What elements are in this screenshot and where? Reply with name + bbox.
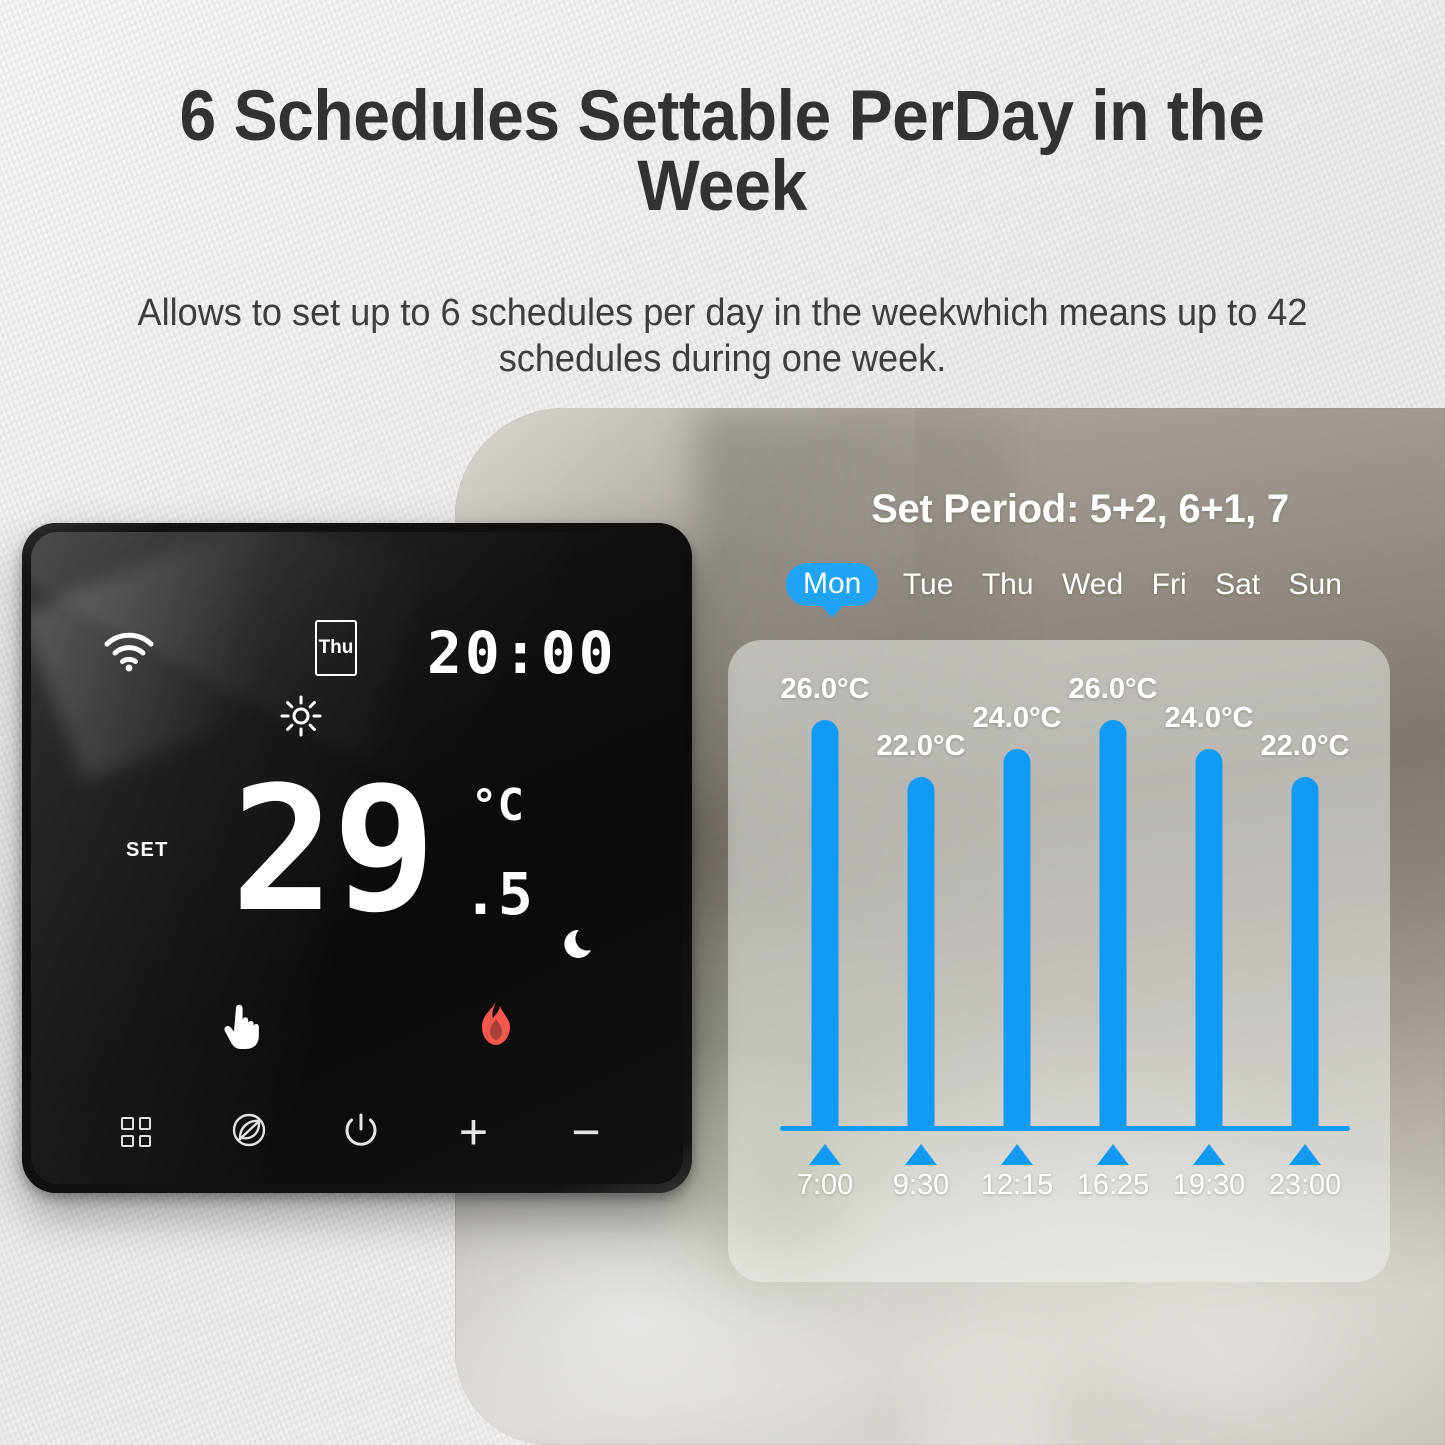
power-icon: [341, 1110, 381, 1155]
chart-tick[interactable]: 12:15: [972, 1144, 1062, 1202]
chart-tick[interactable]: 9:30: [876, 1144, 966, 1202]
set-label: SET: [126, 839, 169, 862]
schedule-chart-card: 26.0°C22.0°C24.0°C26.0°C24.0°C22.0°C 7:0…: [728, 640, 1390, 1282]
chart-bars-area: 26.0°C22.0°C24.0°C26.0°C24.0°C22.0°C: [780, 676, 1350, 1126]
chart-bar[interactable]: [1292, 777, 1319, 1126]
day-tabs: Mon Tue Thu Wed Fri Sat Sun: [786, 563, 1346, 606]
temperature-unit: °C: [471, 780, 524, 831]
power-button[interactable]: [326, 1104, 396, 1160]
chart-bar-column[interactable]: 26.0°C: [1068, 676, 1158, 1126]
triangle-up-icon: [1193, 1144, 1225, 1165]
schedule-chart: 26.0°C22.0°C24.0°C26.0°C24.0°C22.0°C 7:0…: [780, 676, 1350, 1246]
chart-bar-value-label: 24.0°C: [973, 702, 1062, 735]
triangle-up-icon: [905, 1144, 937, 1165]
chart-bar[interactable]: [812, 720, 839, 1126]
chart-tick-label: 9:30: [876, 1169, 966, 1202]
page-subtitle: Allows to set up to 6 schedules per day …: [126, 291, 1318, 382]
chart-tick-label: 16:25: [1068, 1169, 1158, 1202]
chart-tick-label: 19:30: [1164, 1169, 1254, 1202]
chart-bar[interactable]: [1100, 720, 1127, 1126]
grid-icon: [121, 1117, 151, 1147]
device-day-badge: Thu: [315, 620, 357, 676]
chart-bar-column[interactable]: 26.0°C: [780, 676, 870, 1126]
current-temperature: 29: [231, 764, 434, 936]
chart-tick[interactable]: 7:00: [780, 1144, 870, 1202]
page-title: 6 Schedules Settable PerDay in the Week: [118, 82, 1327, 221]
chart-bar-column[interactable]: 22.0°C: [1260, 676, 1350, 1126]
chart-bar[interactable]: [908, 777, 935, 1126]
moon-icon: [561, 924, 601, 969]
chart-baseline: [780, 1126, 1350, 1131]
device-button-row: + −: [101, 1104, 621, 1160]
hand-icon: [221, 1002, 261, 1055]
day-tab-sun[interactable]: Sun: [1285, 566, 1346, 604]
chart-tick[interactable]: 23:00: [1260, 1144, 1350, 1202]
chart-bar[interactable]: [1196, 749, 1223, 1126]
day-tab-wed[interactable]: Wed: [1058, 566, 1127, 604]
increase-button[interactable]: +: [439, 1104, 509, 1160]
triangle-up-icon: [1289, 1144, 1321, 1165]
chart-tick[interactable]: 19:30: [1164, 1144, 1254, 1202]
device-screen: Thu 20:00: [31, 532, 683, 1184]
chart-bar-value-label: 22.0°C: [877, 730, 966, 763]
day-tab-fri[interactable]: Fri: [1148, 566, 1191, 604]
flame-icon: [476, 1000, 516, 1053]
sun-icon: [279, 694, 323, 743]
triangle-up-icon: [809, 1144, 841, 1165]
temperature-decimal: .5: [463, 860, 533, 928]
page-root: 6 Schedules Settable PerDay in the Week …: [0, 0, 1445, 1445]
chart-tick[interactable]: 16:25: [1068, 1144, 1158, 1202]
chart-bar-column[interactable]: 24.0°C: [972, 676, 1062, 1126]
set-period-title: Set Period: 5+2, 6+1, 7: [780, 487, 1380, 532]
day-tab-mon[interactable]: Mon: [786, 563, 878, 606]
device-clock: 20:00: [427, 619, 617, 687]
chart-bar-value-label: 22.0°C: [1261, 730, 1350, 763]
chart-bar-column[interactable]: 22.0°C: [876, 676, 966, 1126]
day-tab-tue[interactable]: Tue: [899, 566, 958, 604]
day-tab-sat[interactable]: Sat: [1211, 566, 1264, 604]
chart-tick-label: 12:15: [972, 1169, 1062, 1202]
wifi-icon: [103, 632, 155, 677]
plus-icon: +: [459, 1115, 488, 1150]
chart-tick-row: 7:009:3012:1516:2519:3023:00: [780, 1144, 1350, 1234]
day-tab-thu[interactable]: Thu: [978, 566, 1038, 604]
chart-bar[interactable]: [1004, 749, 1031, 1126]
chart-tick-label: 23:00: [1260, 1169, 1350, 1202]
chart-bar-value-label: 24.0°C: [1165, 702, 1254, 735]
chart-bar-column[interactable]: 24.0°C: [1164, 676, 1254, 1126]
chart-bar-value-label: 26.0°C: [781, 673, 870, 706]
chart-tick-label: 7:00: [780, 1169, 870, 1202]
minus-icon: −: [571, 1115, 600, 1150]
chart-bar-value-label: 26.0°C: [1069, 673, 1158, 706]
menu-grid-button[interactable]: [101, 1104, 171, 1160]
eco-button[interactable]: [214, 1104, 284, 1160]
decrease-button[interactable]: −: [551, 1104, 621, 1160]
triangle-up-icon: [1001, 1144, 1033, 1165]
leaf-eco-icon: [230, 1111, 268, 1154]
thermostat-device: Thu 20:00: [22, 523, 692, 1193]
triangle-up-icon: [1097, 1144, 1129, 1165]
